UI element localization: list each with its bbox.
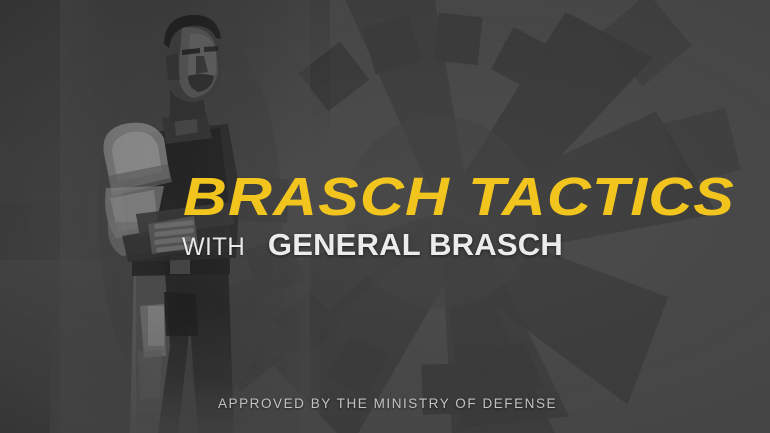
brasch-tactics-title-card: BRASCH TACTICS WITH GENERAL BRASCH APPRO…	[0, 0, 770, 433]
subtitle-prefix: WITH	[182, 233, 245, 262]
show-title-label: BRASCH TACTICS	[183, 168, 735, 227]
show-title-svg: BRASCH TACTICS	[183, 168, 743, 230]
approval-footer: APPROVED BY THE MINISTRY OF DEFENSE	[218, 396, 557, 411]
subtitle-host-name: GENERAL BRASCH	[268, 227, 563, 263]
show-title: BRASCH TACTICS	[183, 168, 743, 230]
show-subtitle: WITH GENERAL BRASCH	[182, 227, 563, 267]
